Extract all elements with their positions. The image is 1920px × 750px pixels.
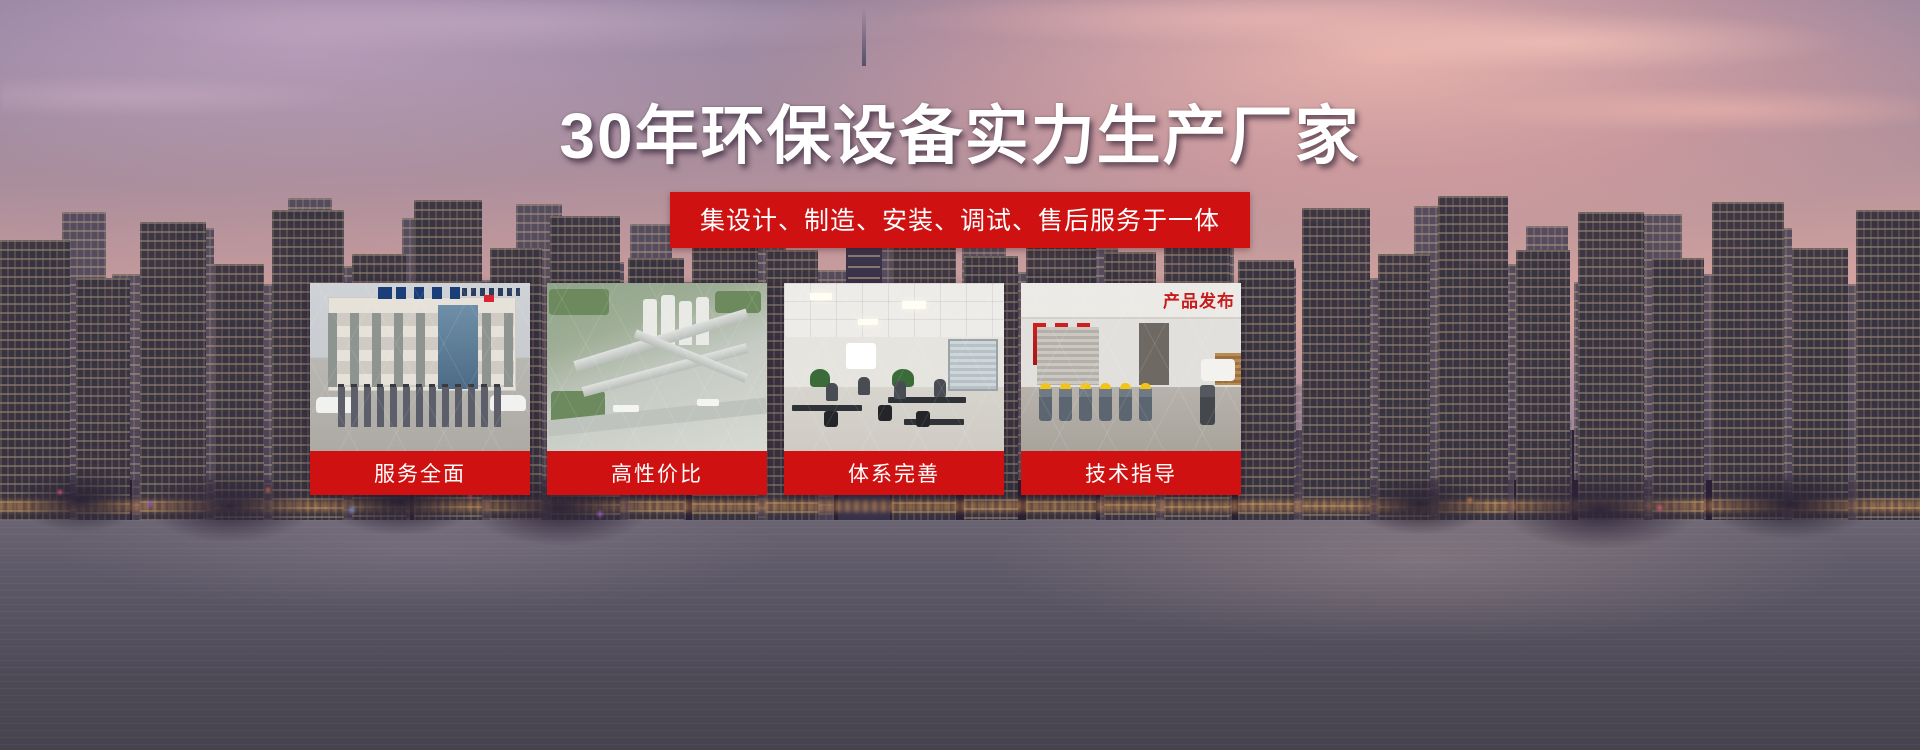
- page-title: 30年环保设备实力生产厂家: [0, 104, 1920, 168]
- card-caption-4: 技术指导: [1021, 451, 1241, 495]
- feature-card-1[interactable]: 服务全面: [310, 283, 530, 495]
- factory-sign-text: 产品发布: [1163, 287, 1235, 312]
- card-photo-office-building: [310, 283, 530, 451]
- card-caption-2: 高性价比: [547, 451, 767, 495]
- feature-card-4[interactable]: 产品发布 技术指导: [1021, 283, 1241, 495]
- feature-card-2[interactable]: 高性价比: [547, 283, 767, 495]
- card-photo-plant-aerial: [547, 283, 767, 451]
- subtitle-banner-wrap: 集设计、制造、安装、调试、售后服务于一体: [0, 192, 1920, 248]
- river-reflection: [0, 520, 1920, 750]
- card-caption-3: 体系完善: [784, 451, 1004, 495]
- card-photo-office-interior: [784, 283, 1004, 451]
- hero-banner: 30年环保设备实力生产厂家 集设计、制造、安装、调试、售后服务于一体 服务全面: [0, 0, 1920, 750]
- subtitle-banner: 集设计、制造、安装、调试、售后服务于一体: [670, 192, 1250, 248]
- feature-card-3[interactable]: 体系完善: [784, 283, 1004, 495]
- card-photo-factory-yard: 产品发布: [1021, 283, 1241, 451]
- feature-card-list: 服务全面 高性价比: [310, 283, 1258, 495]
- card-caption-1: 服务全面: [310, 451, 530, 495]
